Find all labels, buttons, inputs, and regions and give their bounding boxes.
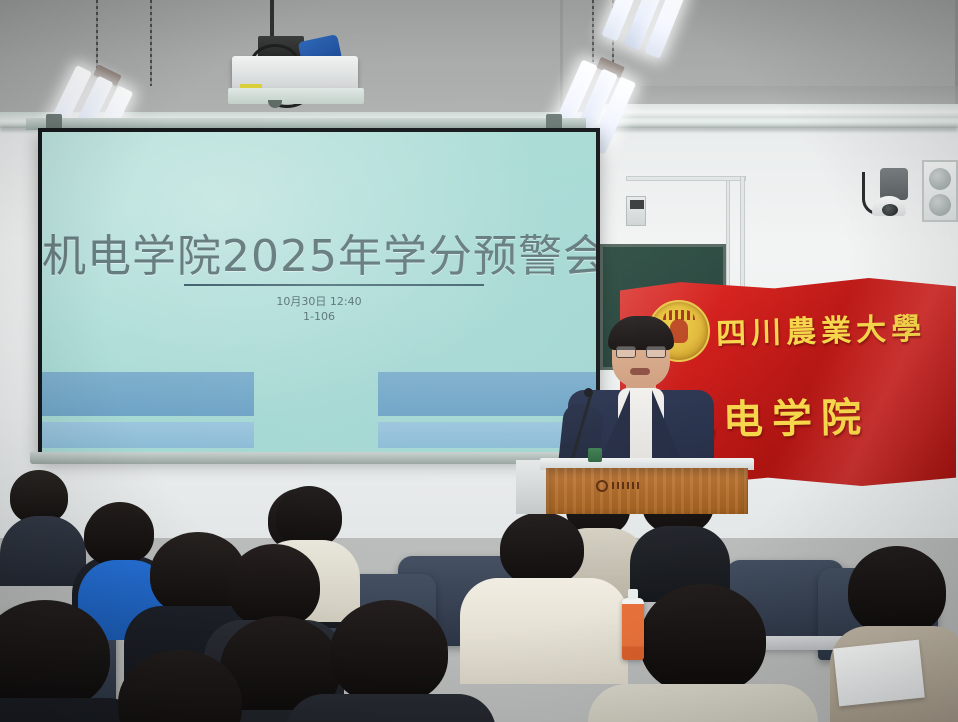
light-chain-left-a [96, 0, 98, 72]
camera-mount [880, 168, 908, 200]
green-cup [588, 448, 602, 462]
banner-line-college: 机电学院 [674, 384, 955, 447]
head [84, 506, 150, 566]
wooden-podium [546, 468, 748, 514]
banner-line-university: 四川農業大學 [715, 303, 952, 353]
slide-accent-bar-right [378, 372, 596, 416]
podium-logo [596, 480, 644, 492]
body [286, 694, 496, 722]
slide-title-underline [184, 284, 484, 286]
body [460, 578, 628, 684]
wall-conduit-vertical [740, 176, 745, 296]
slide-subtitle-date: 10月30日 12:40 [42, 294, 596, 309]
glasses-lens-right [646, 346, 666, 358]
wall-conduit-vertical-2 [726, 180, 730, 296]
head [330, 600, 448, 704]
presenter-mouth [630, 368, 650, 375]
head [276, 486, 342, 548]
microphone-head [584, 388, 593, 397]
speaker-cone [929, 168, 951, 190]
wall-junction-box [626, 196, 646, 226]
light-chain-left-b [150, 0, 152, 86]
podium-wood-grain [546, 468, 748, 514]
slide-subtitle: 10月30日 12:40 1-106 [42, 294, 596, 324]
lecture-hall-photo: 机电学院2025年学分预警会 10月30日 12:40 1-106 四川農業大學… [0, 0, 958, 722]
speaker-cone [929, 194, 951, 216]
slide-accent-bar-left [42, 372, 254, 416]
paper-stack [833, 640, 925, 707]
body [0, 516, 86, 586]
wall-speaker [922, 160, 958, 222]
wall-rail-right [596, 104, 958, 118]
camera-lens [882, 204, 898, 216]
slide-title: 机电学院2025年学分预警会 [42, 220, 596, 284]
head [500, 512, 584, 586]
projection-screen: 机电学院2025年学分预警会 10月30日 12:40 1-106 [42, 132, 596, 454]
projector-pole [270, 0, 274, 40]
drink-bottle [622, 598, 644, 660]
projector-base-plate [228, 88, 364, 104]
podium-logo-mark [596, 480, 608, 492]
presenter-glasses [616, 346, 666, 358]
head [640, 584, 766, 694]
screen-bottom-rail [30, 452, 600, 464]
slide-subtitle-room: 1-106 [42, 309, 596, 324]
podium-logo-text [612, 482, 642, 489]
slide-accent-bar-left-lower [42, 422, 254, 448]
junction-box-face [630, 200, 644, 209]
projection-screen-frame: 机电学院2025年学分预警会 10月30日 12:40 1-106 [38, 128, 600, 458]
glasses-lens-left [616, 346, 636, 358]
head [848, 546, 946, 636]
body [588, 684, 818, 722]
